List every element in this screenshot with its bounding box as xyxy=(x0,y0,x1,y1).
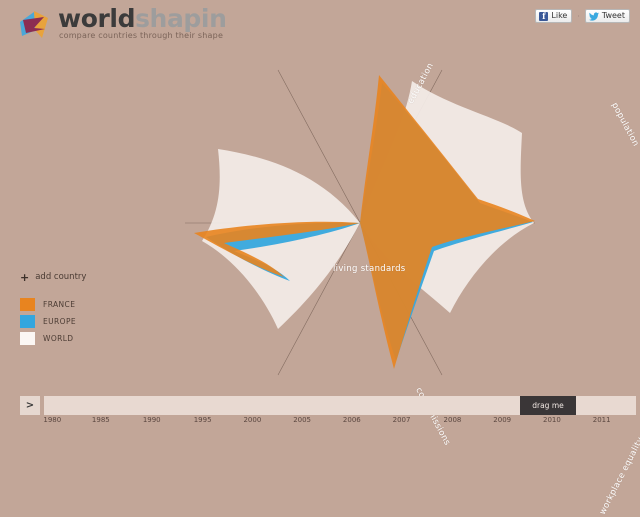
facebook-like-label: Like xyxy=(551,9,567,23)
timeline-tick-1980[interactable]: 1980 xyxy=(43,416,61,424)
worldshapin-app: worldshapin compare countries through th… xyxy=(0,0,640,444)
brand-name-light: shapin xyxy=(135,4,226,33)
shape-chart-svg xyxy=(150,45,570,390)
legend-label-world: WORLD xyxy=(43,334,73,343)
brand-wordmark: worldshapin xyxy=(58,5,227,33)
timeline-tick-1990[interactable]: 1990 xyxy=(143,416,161,424)
axis-label-population[interactable]: population xyxy=(609,101,640,148)
axis-label-workplace-equality[interactable]: workplace equality xyxy=(598,436,640,517)
twitter-bird-icon xyxy=(589,12,599,21)
facebook-icon: f xyxy=(539,12,548,21)
axis-label-living-standards[interactable]: living standards xyxy=(333,264,406,274)
legend-swatch-world xyxy=(20,332,35,345)
timeline-track[interactable]: drag me xyxy=(44,396,636,415)
timeline-tick-2000[interactable]: 2000 xyxy=(243,416,261,424)
play-button[interactable]: > xyxy=(20,396,40,415)
social-separator: · xyxy=(577,12,580,21)
timeline-tick-2010[interactable]: 2010 xyxy=(543,416,561,424)
shape-chart[interactable]: living standards health education popula… xyxy=(150,45,570,390)
legend-swatch-europe xyxy=(20,315,35,328)
timeline-tick-1985[interactable]: 1985 xyxy=(92,416,110,424)
twitter-tweet-button[interactable]: Tweet xyxy=(585,9,630,23)
worldshapin-logo-icon[interactable] xyxy=(14,8,54,44)
brand-tagline: compare countries through their shape xyxy=(59,31,223,40)
brand-name-bold: world xyxy=(58,4,135,33)
legend-swatch-france xyxy=(20,298,35,311)
legend-item-europe[interactable]: EUROPE xyxy=(20,315,140,328)
legend-label-france: FRANCE xyxy=(43,300,75,309)
timeline-tick-2007[interactable]: 2007 xyxy=(393,416,411,424)
facebook-like-button[interactable]: f Like xyxy=(535,9,572,23)
timeline-drag-handle[interactable]: drag me xyxy=(520,396,576,415)
timeline-control[interactable]: > drag me 198019851990199520002005200620… xyxy=(0,390,640,444)
timeline-tick-2005[interactable]: 2005 xyxy=(293,416,311,424)
legend-panel: + add country FRANCE EUROPE WORLD xyxy=(20,272,140,349)
add-country-label: add country xyxy=(35,272,86,282)
timeline-tick-1995[interactable]: 1995 xyxy=(194,416,212,424)
social-buttons: f Like · Tweet xyxy=(535,9,630,23)
add-country-button[interactable]: + add country xyxy=(20,272,140,282)
twitter-tweet-label: Tweet xyxy=(602,9,625,23)
timeline-ticks: 1980198519901995200020052006200720082009… xyxy=(44,416,636,430)
timeline-tick-2006[interactable]: 2006 xyxy=(343,416,361,424)
legend-label-europe: EUROPE xyxy=(43,317,76,326)
legend-item-france[interactable]: FRANCE xyxy=(20,298,140,311)
timeline-tick-2008[interactable]: 2008 xyxy=(444,416,462,424)
page-header: worldshapin compare countries through th… xyxy=(0,0,640,50)
legend-item-world[interactable]: WORLD xyxy=(20,332,140,345)
plus-icon: + xyxy=(20,273,29,282)
timeline-tick-2009[interactable]: 2009 xyxy=(493,416,511,424)
timeline-tick-2011[interactable]: 2011 xyxy=(593,416,611,424)
